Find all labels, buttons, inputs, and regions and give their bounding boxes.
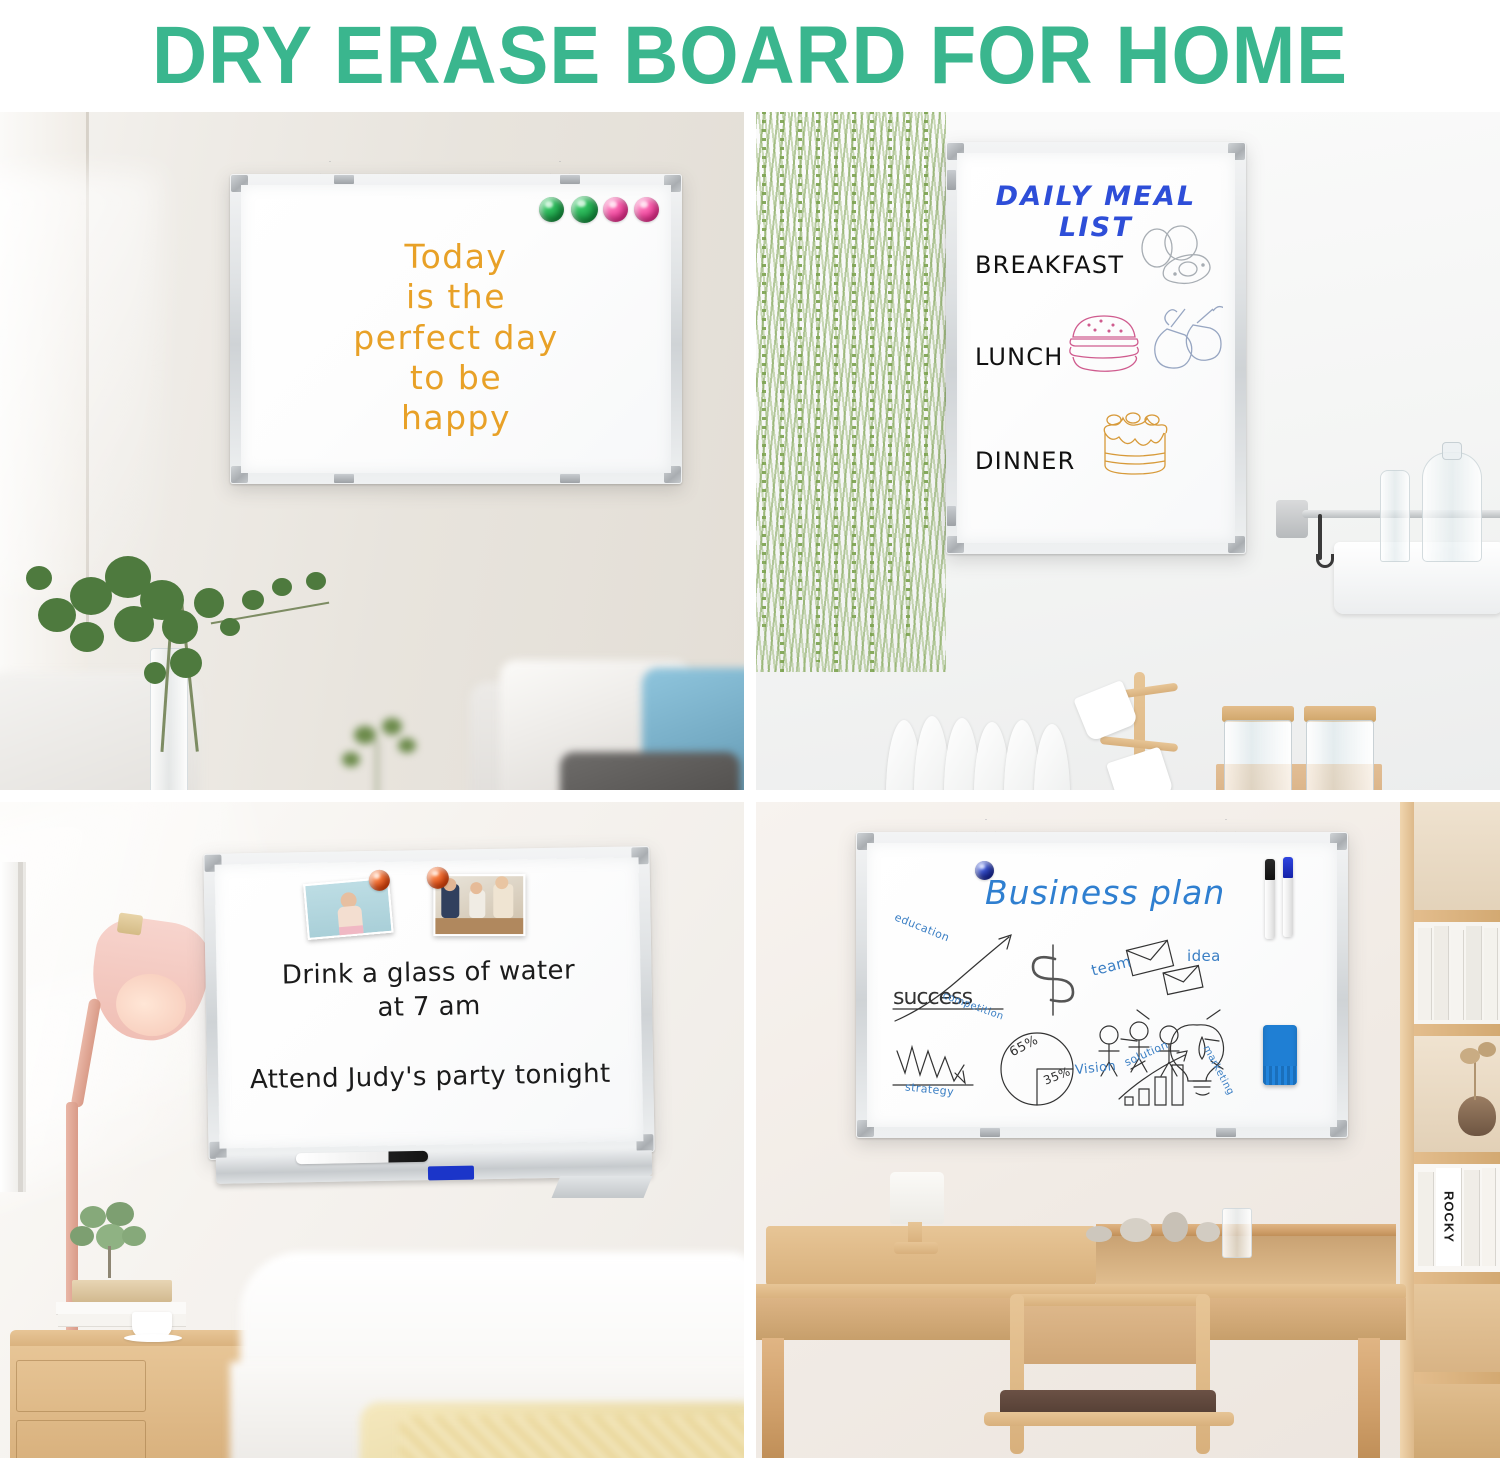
- board-surface[interactable]: Drink a glass of water at 7 am Attend Ju…: [215, 857, 644, 1148]
- note-line: Drink a glass of water: [216, 953, 641, 993]
- magnet-green-2[interactable]: [571, 196, 598, 223]
- nightstand-drawer: [16, 1360, 146, 1412]
- lamp-shade: [890, 1172, 944, 1224]
- mug-tree: [1086, 672, 1196, 790]
- magnet-pink-1[interactable]: [603, 197, 628, 222]
- panel-living-room: Today is the perfect day to be happy: [0, 112, 744, 790]
- glass-bottle-small: [1380, 470, 1410, 562]
- panel-grid: Today is the perfect day to be happy: [0, 112, 1500, 1458]
- note-line: at 7 am: [217, 987, 642, 1027]
- bottle-stopper: [1442, 442, 1462, 460]
- whiteboard-landscape-business[interactable]: Business plan: [856, 832, 1348, 1138]
- doodle-label-idea: idea: [1187, 947, 1221, 965]
- shelf-cell-decor: [1414, 1036, 1500, 1154]
- page-title: DRY ERASE BOARD FOR HOME: [152, 15, 1348, 97]
- glass-bottle-large: [1422, 452, 1482, 562]
- product-image: DRY ERASE BOARD FOR HOME: [0, 0, 1500, 1458]
- board-clip: [560, 175, 580, 184]
- quote-line: to be: [241, 358, 671, 398]
- magnet-green-1[interactable]: [539, 197, 564, 222]
- panel-home-office: ROCKY: [756, 802, 1500, 1458]
- desk-lamp: [872, 1172, 962, 1262]
- glass-canisters: [1218, 704, 1388, 790]
- nightstand: [10, 1330, 260, 1458]
- board-clip: [947, 506, 956, 526]
- board-clip: [560, 474, 580, 483]
- desk-decor: [1086, 1210, 1286, 1246]
- note-line: Attend Judy's party tonight: [218, 1057, 643, 1097]
- shelf-cell: [1414, 802, 1500, 914]
- sunbeam: [0, 172, 160, 592]
- board-quote: Today is the perfect day to be happy: [241, 237, 671, 438]
- board-clip: [334, 175, 354, 184]
- open-book: [72, 1280, 172, 1302]
- whiteboard-portrait-meals[interactable]: DAILY MEAL LIST BREAKFAST: [946, 142, 1246, 554]
- lamp-joint: [117, 912, 144, 935]
- business-plan-title: Business plan: [985, 873, 1225, 912]
- window-mullion: [18, 862, 23, 1192]
- board-surface[interactable]: DAILY MEAL LIST BREAKFAST: [957, 153, 1235, 543]
- marker-black[interactable]: [296, 1151, 428, 1164]
- board-clip: [334, 474, 354, 483]
- small-plant: [320, 712, 450, 790]
- marker-blue[interactable]: [1283, 857, 1293, 937]
- shelf-cell-drawer: [1414, 1384, 1500, 1458]
- meal-row-breakfast-label: BREAKFAST: [975, 251, 1124, 279]
- board-surface[interactable]: Today is the perfect day to be happy: [241, 185, 671, 473]
- shelf-cell-rocky: ROCKY: [1414, 1164, 1500, 1274]
- cake-doodle: [1095, 407, 1175, 479]
- whiteboard-landscape-quote[interactable]: Today is the perfect day to be happy: [230, 174, 682, 484]
- shelf-cell-drawer: [1414, 1284, 1500, 1374]
- panel-bedroom: Drink a glass of water at 7 am Attend Ju…: [0, 802, 744, 1458]
- throw-pattern: [400, 1416, 744, 1458]
- plate-rack: [886, 712, 1116, 790]
- desk-leg: [1358, 1338, 1380, 1458]
- nightstand-drawer: [16, 1420, 146, 1458]
- quote-line: is the: [241, 277, 671, 317]
- desk-chair: [966, 1294, 1266, 1458]
- bookshelf: ROCKY: [1400, 802, 1500, 1458]
- board-clip: [980, 1128, 1000, 1137]
- rail-bracket: [1276, 500, 1308, 538]
- eraser-blue[interactable]: [1263, 1025, 1297, 1085]
- shelf-cell-books: [1414, 922, 1500, 1026]
- tray-bracket: [552, 1176, 653, 1198]
- pillow-dark: [560, 752, 740, 790]
- panel-kitchen: DAILY MEAL LIST BREAKFAST: [756, 112, 1500, 790]
- rail-hook-curve: [1316, 554, 1334, 568]
- board-surface[interactable]: Business plan: [867, 843, 1337, 1127]
- small-potted-plant: [60, 1202, 170, 1282]
- eucalyptus-plant: [10, 552, 340, 752]
- chicken-legs-doodle: [1143, 299, 1223, 377]
- whiteboard-landscape-notes[interactable]: Drink a glass of water at 7 am Attend Ju…: [203, 846, 654, 1160]
- saucer: [124, 1334, 182, 1342]
- quote-line: happy: [241, 398, 671, 438]
- mug: [1106, 747, 1174, 790]
- marker-black[interactable]: [1265, 859, 1275, 939]
- board-clip: [1216, 1128, 1236, 1137]
- wall-rail-basket: [1256, 464, 1500, 624]
- header-banner: DRY ERASE BOARD FOR HOME: [0, 0, 1500, 112]
- magnet-pink-2[interactable]: [634, 197, 659, 222]
- quote-line: Today: [241, 237, 671, 277]
- quote-line: perfect day: [241, 318, 671, 358]
- burger-doodle: [1065, 311, 1143, 377]
- marker-blue[interactable]: [428, 1166, 474, 1181]
- meal-row-dinner-label: DINNER: [975, 447, 1076, 475]
- eggs-doodle: [1135, 225, 1225, 287]
- board-clip: [947, 170, 956, 190]
- chair-back: [1020, 1306, 1200, 1364]
- meal-row-lunch-label: LUNCH: [975, 343, 1064, 371]
- hanging-vine-plant: [756, 112, 946, 672]
- lamp-neck: [71, 998, 102, 1108]
- desk-leg: [762, 1338, 784, 1458]
- book-title: ROCKY: [1442, 1191, 1457, 1243]
- drinking-glass: [1222, 1208, 1252, 1258]
